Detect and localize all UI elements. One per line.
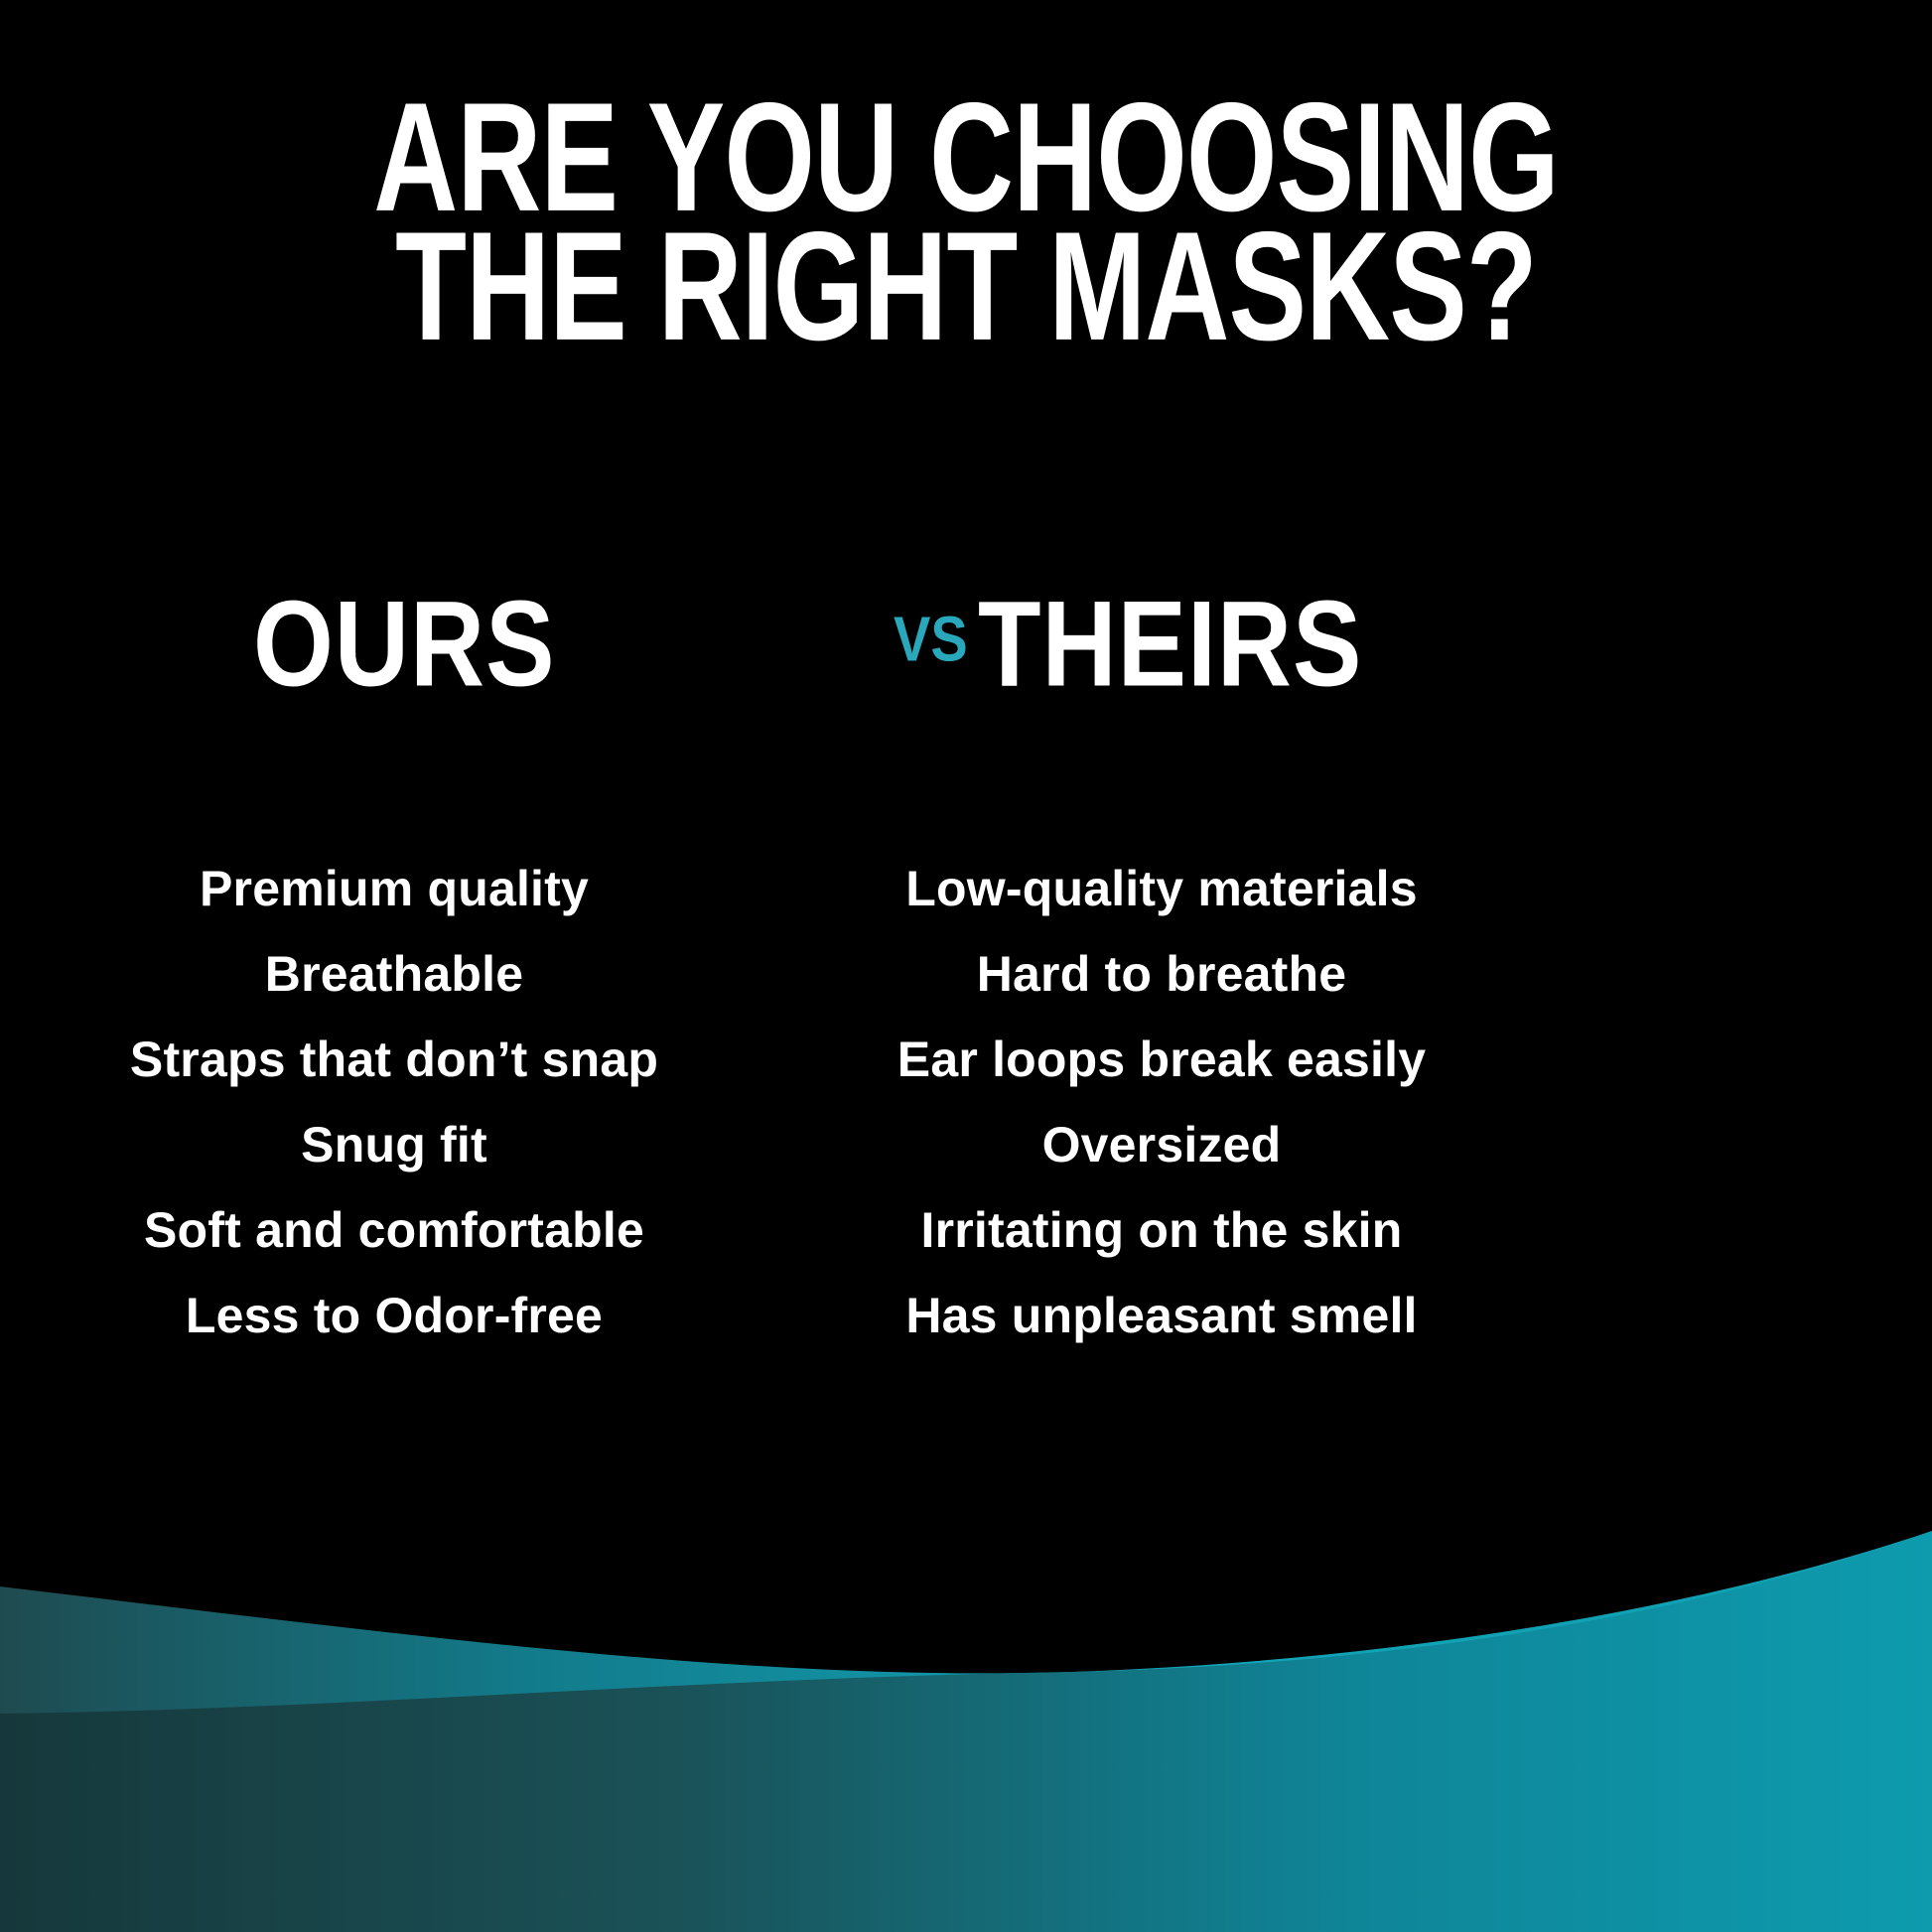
list-item: Less to Odor-free: [47, 1273, 742, 1358]
column-heading-ours: OURS: [253, 584, 541, 706]
list-item: Snug fit: [47, 1102, 742, 1187]
list-item: Has unpleasant smell: [814, 1273, 1509, 1358]
list-item: Premium quality: [47, 846, 742, 931]
list-item: Breathable: [47, 931, 742, 1017]
list-item: Irritating on the skin: [814, 1187, 1509, 1273]
comparison-heading-row: OURS VS THEIRS: [0, 584, 1932, 693]
list-item: Oversized: [814, 1102, 1509, 1187]
title-line-2: THE RIGHT MASKS?: [77, 224, 1855, 350]
comparison-poster: ARE YOU CHOOSING THE RIGHT MASKS? OURS V…: [0, 0, 1932, 1932]
theirs-list: Low-quality materials Hard to breathe Ea…: [814, 846, 1509, 1358]
list-item: Soft and comfortable: [47, 1187, 742, 1273]
wave-layer-dark: [0, 1531, 1932, 1932]
ours-list: Premium quality Breathable Straps that d…: [47, 846, 742, 1358]
page-title: ARE YOU CHOOSING THE RIGHT MASKS?: [0, 95, 1932, 328]
list-item: Straps that don’t snap: [47, 1017, 742, 1102]
column-heading-theirs: THEIRS: [978, 584, 1350, 706]
wave-layer-bright: [0, 1531, 1932, 1932]
list-item: Ear loops break easily: [814, 1017, 1509, 1102]
list-item: Low-quality materials: [814, 846, 1509, 931]
list-item: Hard to breathe: [814, 931, 1509, 1017]
bottom-wave-decoration: [0, 1515, 1932, 1932]
